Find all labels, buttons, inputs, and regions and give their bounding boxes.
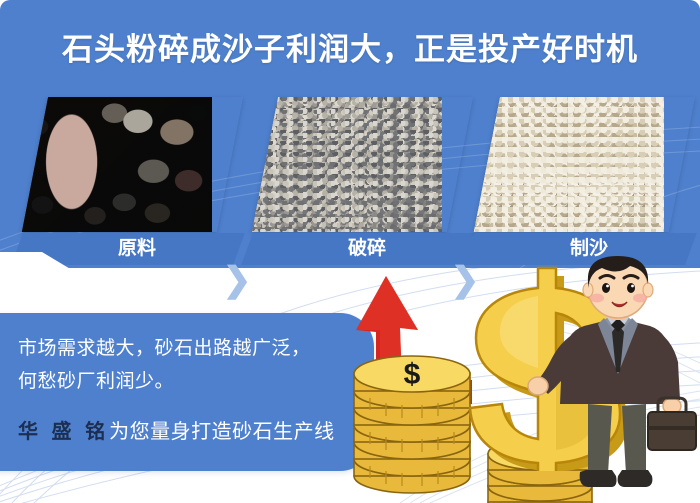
illustration-group: $ $ — [340, 258, 700, 503]
page-title: 石头粉碎成沙子利润大，正是投产好时机 — [0, 24, 700, 69]
step-photo — [252, 97, 473, 232]
businessman-with-briefcase — [526, 254, 700, 499]
chevron-right-icon: ❯ — [222, 265, 252, 295]
hero-header: 石头粉碎成沙子利润大，正是投产好时机 原料 破碎 — [0, 0, 700, 268]
step-crushing[interactable]: 破碎 — [265, 97, 465, 267]
crushed-gravel-photo — [252, 97, 442, 232]
step-photo — [22, 97, 243, 232]
promo-line-2: 何愁砂厂利润少。 — [18, 366, 174, 393]
step-sand-making[interactable]: 制沙 — [487, 97, 687, 267]
step-raw-material[interactable]: 原料 — [35, 97, 235, 267]
promo-tagline: 为您量身打造砂石生产线 — [109, 421, 335, 443]
step-photo — [474, 97, 695, 232]
promo-line-1: 市场需求越大，砂石出路越广泛， — [18, 333, 311, 360]
brand-name: 华 盛 铭 — [18, 421, 109, 443]
svg-text:$: $ — [404, 358, 421, 391]
manufactured-sand-photo — [474, 97, 664, 232]
promo-line-3: 华 盛 铭为您量身打造砂石生产线 — [18, 415, 335, 444]
promo-textbox: 市场需求越大，砂石出路越广泛， 何愁砂厂利润少。 华 盛 铭为您量身打造砂石生产… — [0, 313, 374, 471]
river-pebbles-photo — [22, 97, 212, 232]
process-steps: 原料 破碎 制沙 ❯ ❯ — [0, 97, 700, 267]
promo-banner: 石头粉碎成沙子利润大，正是投产好时机 原料 破碎 — [0, 0, 700, 503]
